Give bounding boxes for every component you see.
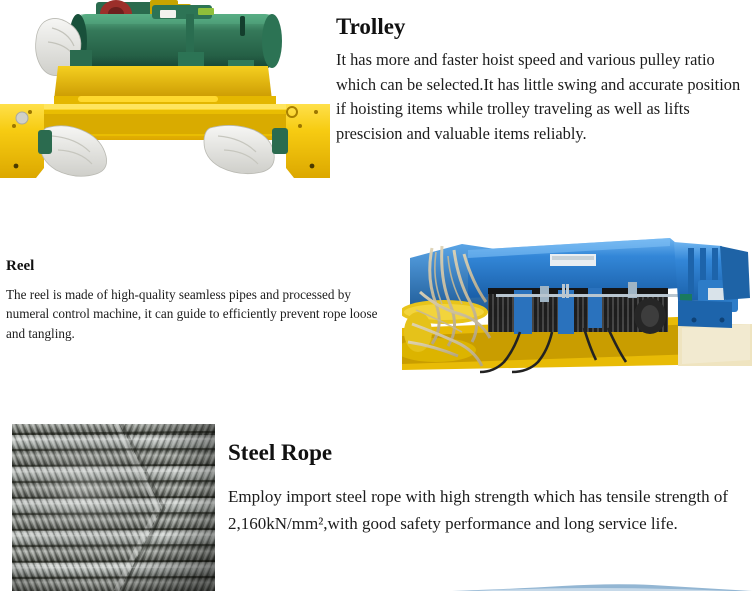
next-photo-sliver [452,582,752,591]
steel-rope-body: Employ import steel rope with high stren… [228,483,742,537]
steel-rope-photo [12,424,215,591]
trolley-body: It has more and faster hoist speed and v… [336,48,748,146]
trolley-text-block: Trolley It has more and faster hoist spe… [336,14,748,146]
reel-heading: Reel [6,258,391,275]
steel-rope-text-block: Steel Rope Employ import steel rope with… [228,440,742,537]
trolley-heading: Trolley [336,14,748,39]
steel-rope-heading: Steel Rope [228,440,742,465]
reel-text-block: Reel The reel is made of high-quality se… [6,258,391,343]
reel-photo [402,232,752,376]
trolley-photo [0,0,330,185]
page-root: Trolley It has more and faster hoist spe… [0,0,752,591]
reel-body: The reel is made of high-quality seamles… [6,285,391,344]
